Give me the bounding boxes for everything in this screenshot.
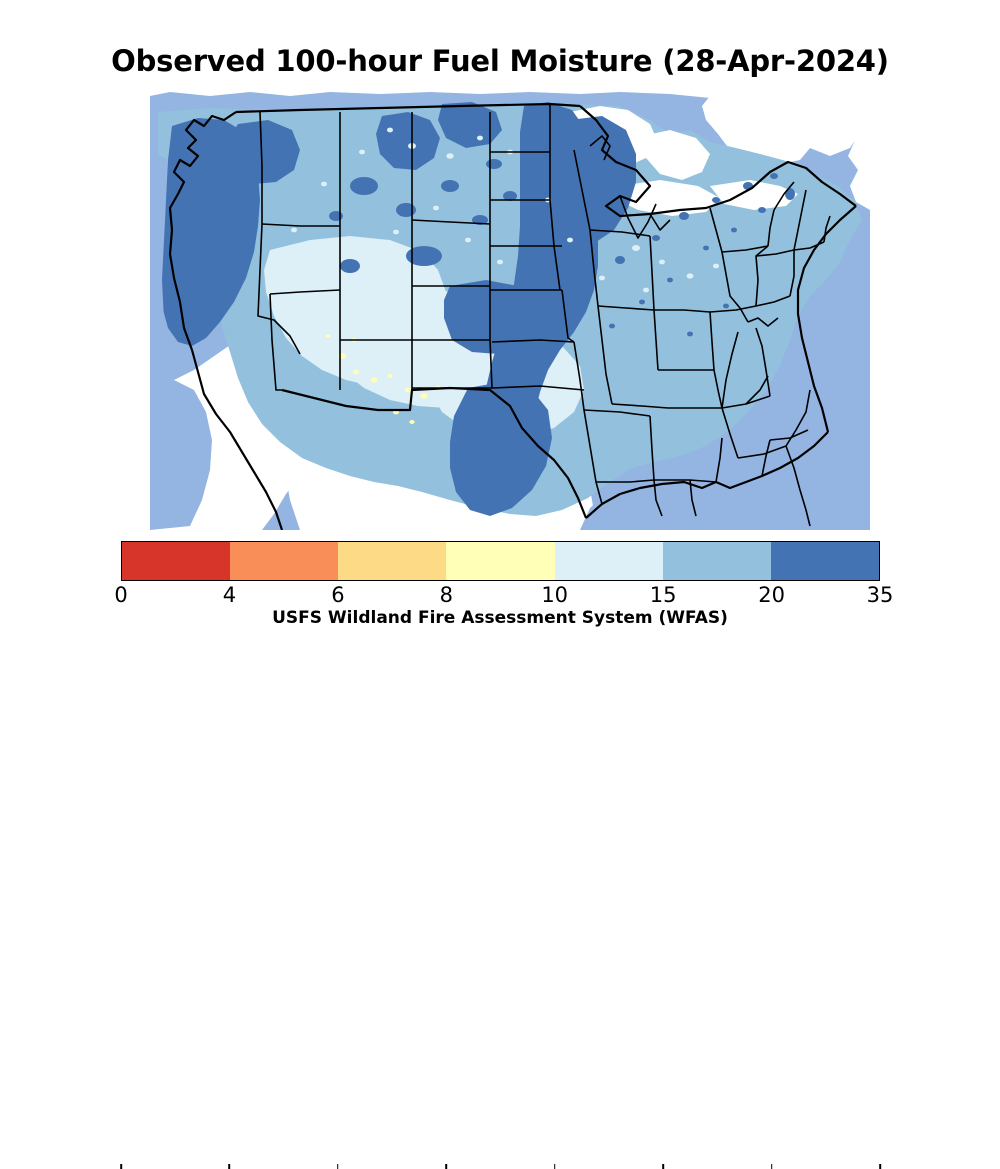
colorbar-tickmark xyxy=(879,1164,881,1169)
band-20-35-kansas xyxy=(444,280,534,354)
colorbar-tick-20: 20 xyxy=(758,583,785,607)
colorbar-tick-8: 8 xyxy=(440,583,453,607)
colorbar-tick-0: 0 xyxy=(114,583,127,607)
colorbar[interactable] xyxy=(121,541,880,581)
map-plot-area xyxy=(150,90,870,530)
colorbar-segment-20-35 xyxy=(771,542,879,580)
colorbar-tickmark xyxy=(120,1164,122,1169)
colorbar-tick-35: 35 xyxy=(867,583,894,607)
colorbar-tick-4: 4 xyxy=(223,583,236,607)
colorbar-tickmark xyxy=(554,1164,556,1169)
colorbar-caption: USFS Wildland Fire Assessment System (WF… xyxy=(0,608,1000,628)
colorbar-tickmark xyxy=(446,1164,448,1169)
colorbar-segment-0-4 xyxy=(122,542,230,580)
colorbar-tickmark xyxy=(337,1164,339,1169)
colorbar-tick-10: 10 xyxy=(541,583,568,607)
colorbar-segment-10-15 xyxy=(555,542,663,580)
colorbar-tickmark xyxy=(662,1164,664,1169)
page-title: Observed 100-hour Fuel Moisture (28-Apr-… xyxy=(0,44,1000,78)
colorbar-tickmark xyxy=(771,1164,773,1169)
colorbar-tick-15: 15 xyxy=(650,583,677,607)
colorbar-segment-4-6 xyxy=(230,542,338,580)
colorbar-segment-8-10 xyxy=(446,542,554,580)
colorbar-segment-6-8 xyxy=(338,542,446,580)
colorbar-tick-6: 6 xyxy=(331,583,344,607)
colorbar-segment-15-20 xyxy=(663,542,771,580)
figure-canvas: Observed 100-hour Fuel Moisture (28-Apr-… xyxy=(0,0,1000,700)
colorbar-tickmark xyxy=(229,1164,231,1169)
colorbar-tick-labels: 0 4 6 8 10 15 20 35 xyxy=(0,583,1000,609)
fuel-moisture-choropleth xyxy=(150,90,870,530)
